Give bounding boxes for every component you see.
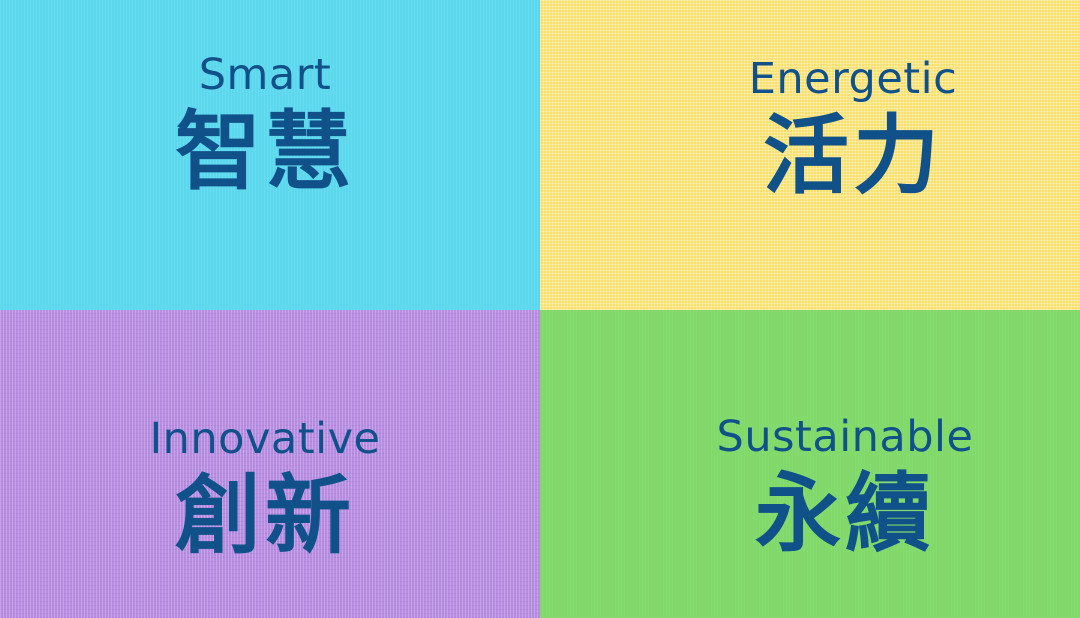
- value-block-innovative: Innovative 創新: [149, 417, 380, 564]
- quadrant-smart: Smart 智慧: [0, 0, 540, 310]
- quadrant-sustainable: Sustainable 永續: [540, 310, 1080, 618]
- value-block-sustainable: Sustainable 永續: [717, 415, 974, 562]
- value-label-en-energetic: Energetic: [749, 57, 958, 102]
- value-label-cjk-innovative: 創新: [175, 468, 355, 564]
- value-block-energetic: Energetic 活力: [749, 57, 958, 204]
- quadrant-innovative: Innovative 創新: [0, 310, 540, 618]
- value-label-en-sustainable: Sustainable: [717, 415, 974, 460]
- value-label-cjk-smart: 智慧: [175, 104, 355, 200]
- value-label-cjk-energetic: 活力: [763, 108, 943, 204]
- value-label-en-smart: Smart: [199, 53, 332, 98]
- value-block-smart: Smart 智慧: [175, 53, 355, 200]
- value-label-cjk-sustainable: 永續: [755, 466, 935, 562]
- quadrant-energetic: Energetic 活力: [540, 0, 1080, 310]
- value-label-en-innovative: Innovative: [149, 417, 380, 462]
- brand-values-grid: Smart 智慧 Energetic 活力 Innovative 創新 Sust…: [0, 0, 1080, 618]
